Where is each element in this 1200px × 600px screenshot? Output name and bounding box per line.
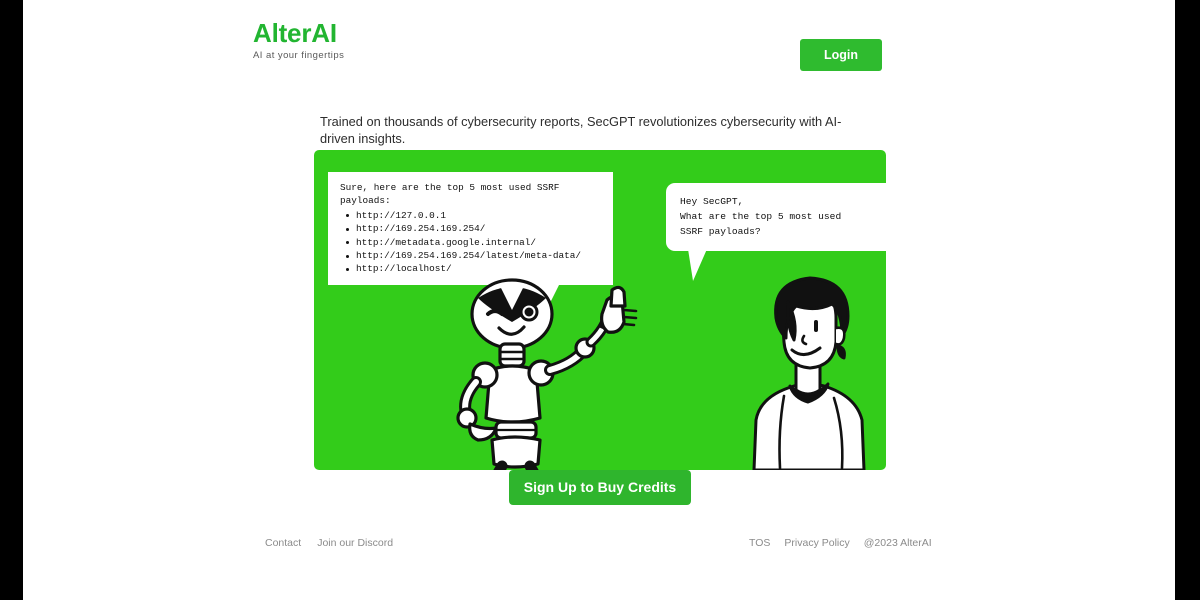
site-footer: Contact Join our Discord TOS Privacy Pol…: [23, 530, 1175, 560]
footer-link-privacy-policy[interactable]: Privacy Policy: [784, 537, 849, 549]
list-item: http://127.0.0.1: [340, 209, 602, 222]
brand-logo[interactable]: AlterAI AI at your fingertips: [253, 18, 344, 62]
footer-right-links: TOS Privacy Policy @2023 AlterAI: [749, 537, 932, 549]
bot-speech-bubble: Sure, here are the top 5 most used SSRF …: [328, 172, 613, 285]
screenshot-viewport: AlterAI AI at your fingertips Login Trai…: [0, 0, 1200, 600]
footer-link-discord[interactable]: Join our Discord: [317, 537, 393, 549]
ssrf-payload-list: http://127.0.0.1 http://169.254.169.254/…: [340, 209, 602, 276]
footer-link-tos[interactable]: TOS: [749, 537, 770, 549]
list-item: http://metadata.google.internal/: [340, 236, 602, 249]
footer-link-contact[interactable]: Contact: [265, 537, 301, 549]
hero-tagline: Trained on thousands of cybersecurity re…: [320, 113, 860, 147]
bot-bubble-intro: Sure, here are the top 5 most used SSRF …: [340, 181, 602, 208]
brand-name: AlterAI: [253, 18, 344, 48]
signup-buy-credits-button[interactable]: Sign Up to Buy Credits: [509, 470, 691, 505]
list-item: http://169.254.169.254/: [340, 222, 602, 235]
login-button[interactable]: Login: [800, 39, 882, 71]
site-header: AlterAI AI at your fingertips Login: [23, 0, 1175, 95]
hero-illustration-panel: Sure, here are the top 5 most used SSRF …: [314, 150, 886, 470]
robot-thumbs-up-illustration: [444, 278, 654, 470]
human-bubble-tail: [688, 249, 707, 281]
person-illustration: [744, 270, 884, 470]
footer-copyright: @2023 AlterAI: [864, 537, 932, 549]
footer-left-links: Contact Join our Discord: [265, 537, 393, 549]
list-item: http://localhost/: [340, 262, 602, 275]
human-speech-bubble: Hey SecGPT, What are the top 5 most used…: [666, 183, 886, 251]
brand-tagline: AI at your fingertips: [253, 50, 344, 62]
list-item: http://169.254.169.254/latest/meta-data/: [340, 249, 602, 262]
page-container: AlterAI AI at your fingertips Login Trai…: [23, 0, 1175, 600]
